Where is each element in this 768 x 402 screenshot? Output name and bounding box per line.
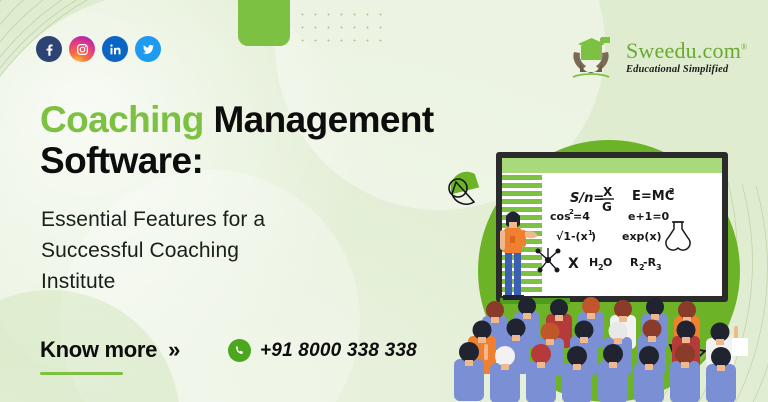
svg-text:S/n=: S/n= — [570, 191, 604, 206]
subtitle-line-3: Institute — [41, 267, 371, 298]
linkedin-icon[interactable] — [102, 36, 128, 62]
logo-tagline: Educational Simplified — [626, 65, 747, 76]
svg-text:=4: =4 — [573, 210, 590, 223]
svg-text:cos: cos — [550, 210, 571, 223]
facebook-icon[interactable] — [36, 36, 62, 62]
svg-text:exp(x): exp(x) — [622, 230, 662, 243]
svg-text:-R: -R — [643, 256, 657, 269]
subtitle: Essential Features for a Successful Coac… — [41, 205, 371, 298]
svg-text:E=MC: E=MC — [632, 189, 674, 204]
svg-text:X: X — [568, 256, 579, 272]
phone-icon — [228, 339, 251, 362]
headline-accent-word: Coaching — [40, 99, 204, 140]
subtitle-line-2: Successful Coaching — [41, 236, 371, 267]
twitter-icon[interactable] — [135, 36, 161, 62]
svg-text:G: G — [602, 200, 612, 214]
brand-logo[interactable]: Sweedu.com® Educational Simplified — [560, 32, 747, 84]
subtitle-line-1: Essential Features for a — [41, 205, 371, 236]
promo-banner: Sweedu.com® Educational Simplified Coach… — [0, 0, 768, 402]
double-chevron-right-icon: » — [168, 337, 177, 363]
svg-text:): ) — [591, 230, 596, 243]
logo-name: Sweedu.com® — [626, 40, 747, 62]
green-chip-decoration — [238, 0, 290, 46]
social-links[interactable] — [36, 36, 161, 62]
dot-grid-decoration — [296, 8, 388, 46]
instagram-icon[interactable] — [69, 36, 95, 62]
phone-contact[interactable]: +91 8000 338 338 — [228, 339, 417, 362]
registered-mark: ® — [741, 43, 747, 52]
svg-text:H: H — [589, 256, 598, 269]
headline-line2: Software: — [40, 140, 203, 181]
svg-text:R: R — [630, 256, 639, 269]
phone-number: +91 8000 338 338 — [260, 340, 417, 362]
know-more-button[interactable]: Know more » — [40, 337, 177, 363]
classroom-illustration: S/n= X G E=MC 2 cos 2 =4 e+1=0 √1-(x 1 )… — [440, 150, 768, 402]
svg-text:e+1=0: e+1=0 — [628, 210, 670, 223]
headline-rest: Management — [204, 99, 434, 140]
svg-text:2: 2 — [669, 187, 675, 196]
svg-text:3: 3 — [656, 263, 662, 272]
know-more-label: Know more — [40, 337, 157, 363]
svg-text:X: X — [603, 185, 613, 199]
graduation-cap-in-hands-icon — [560, 32, 622, 84]
svg-text:O: O — [603, 256, 612, 269]
cta-underline — [40, 372, 123, 375]
svg-text:√1-(x: √1-(x — [556, 230, 588, 243]
